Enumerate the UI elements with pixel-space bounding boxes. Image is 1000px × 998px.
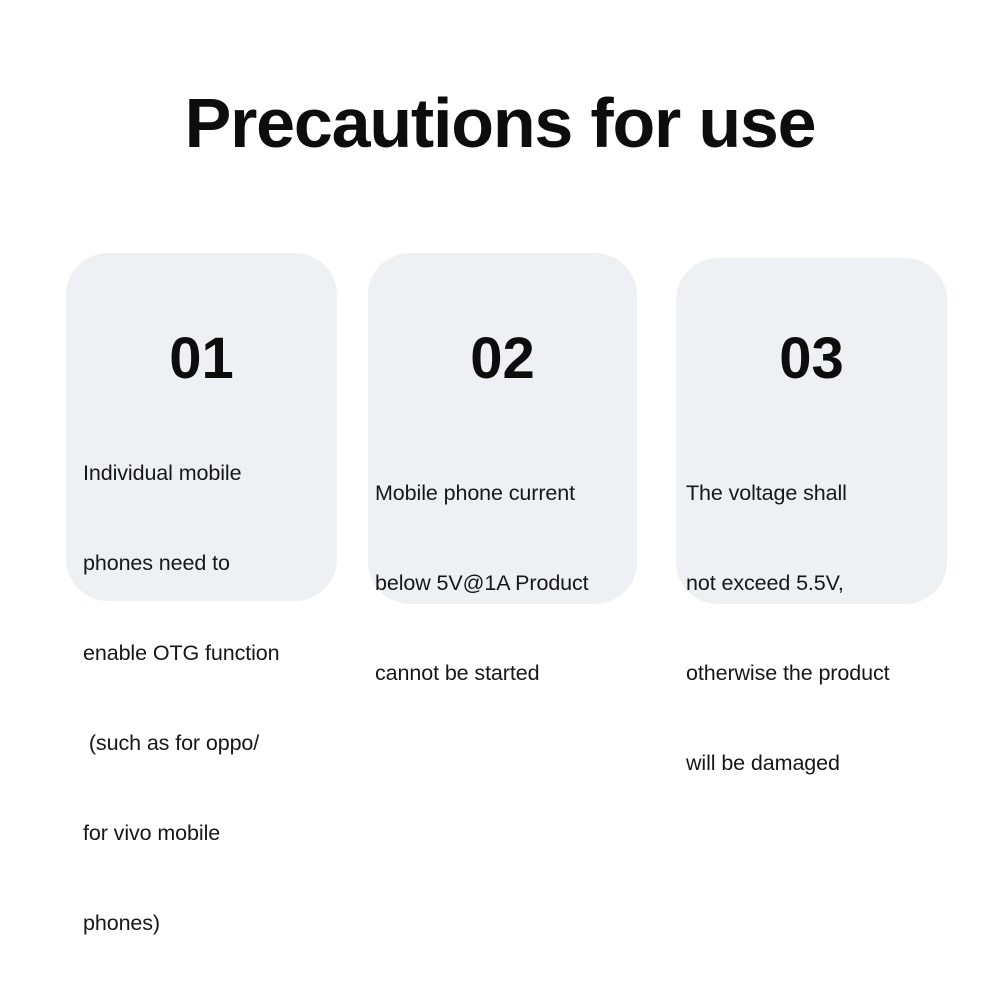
card-body-line: below 5V@1A Product [375,568,589,598]
precaution-card-01: 01 Individual mobile phones need to enab… [66,253,337,601]
card-body-line: Individual mobile [83,458,280,488]
card-number-01: 01 [66,330,337,388]
precaution-cards-row: 01 Individual mobile phones need to enab… [0,0,1000,683]
card-body-line: otherwise the product [686,658,889,688]
card-number-02: 02 [368,330,637,388]
card-body-line: phones need to [83,548,280,578]
card-body-line: for vivo mobile [83,818,280,848]
card-body-line: (such as for oppo/ [83,728,280,758]
card-body-03: The voltage shall not exceed 5.5V, other… [686,418,889,838]
card-body-line: not exceed 5.5V, [686,568,889,598]
card-body-line: Mobile phone current [375,478,589,508]
precaution-card-03: 03 The voltage shall not exceed 5.5V, ot… [676,258,947,604]
card-body-line: enable OTG function [83,638,280,668]
card-body-line: will be damaged [686,748,889,778]
precaution-card-02: 02 Mobile phone current below 5V@1A Prod… [368,253,637,604]
card-body-line: cannot be started [375,658,589,688]
card-body-line: The voltage shall [686,478,889,508]
card-body-line: phones) [83,908,280,938]
precautions-page: Precautions for use 01 Individual mobile… [0,0,1000,683]
card-number-03: 03 [676,330,947,388]
card-body-01: Individual mobile phones need to enable … [83,398,280,998]
card-body-02: Mobile phone current below 5V@1A Product… [375,418,589,748]
